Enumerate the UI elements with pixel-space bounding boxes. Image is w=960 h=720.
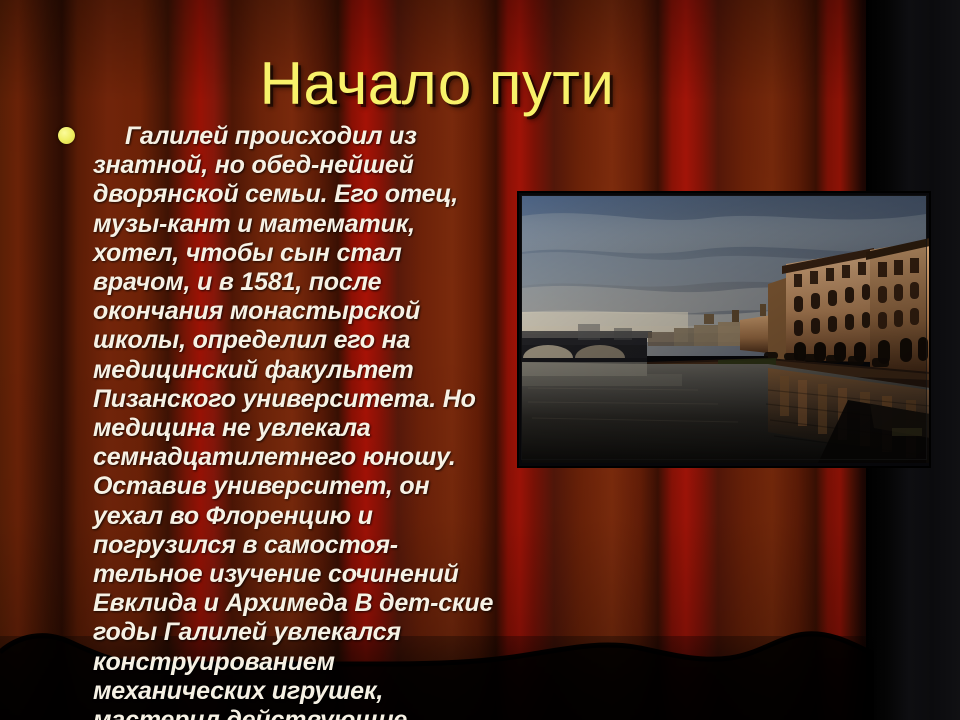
body-paragraph: Галилей происходил из знатной, но обед-н… (93, 122, 501, 720)
slide-title: Начало пути (0, 52, 874, 116)
bullet-marker-icon (58, 127, 75, 144)
presentation-slide: Начало пути Галилей происходил из знатно… (0, 0, 960, 720)
river-embankment-sunset-photo (518, 192, 930, 467)
